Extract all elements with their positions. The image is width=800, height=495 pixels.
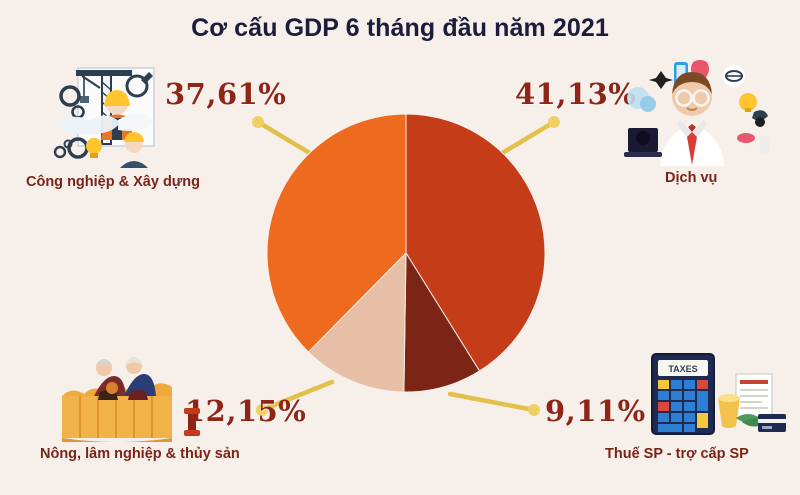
category-label-nong-lam: Nông, lâm nghiệp & thủy sản [40, 446, 240, 462]
businessman-services-icon [622, 50, 774, 172]
infographic-canvas: Cơ cấu GDP 6 tháng đầu năm 2021 37,61% [0, 0, 800, 495]
calculator-display-text: TAXES [668, 364, 697, 374]
construction-crane-icon [42, 52, 184, 172]
category-label-cong-nghiep: Công nghiệp & Xây dựng [26, 174, 200, 190]
category-label-dich-vu: Dịch vụ [665, 170, 717, 186]
tax-calculator-icon: TAXES [644, 350, 794, 446]
pie-chart-svg [266, 113, 546, 393]
category-label-thue-sp: Thuế SP - trợ cấp SP [605, 446, 749, 462]
leader-line-thue-sp [450, 394, 540, 416]
value-label-thue-sp: 9,11% [545, 394, 646, 428]
page-title: Cơ cấu GDP 6 tháng đầu năm 2021 [0, 14, 800, 43]
pie-chart [266, 113, 546, 393]
farmers-harvest-icon [56, 352, 208, 448]
value-label-dich-vu: 41,13% [515, 77, 636, 111]
